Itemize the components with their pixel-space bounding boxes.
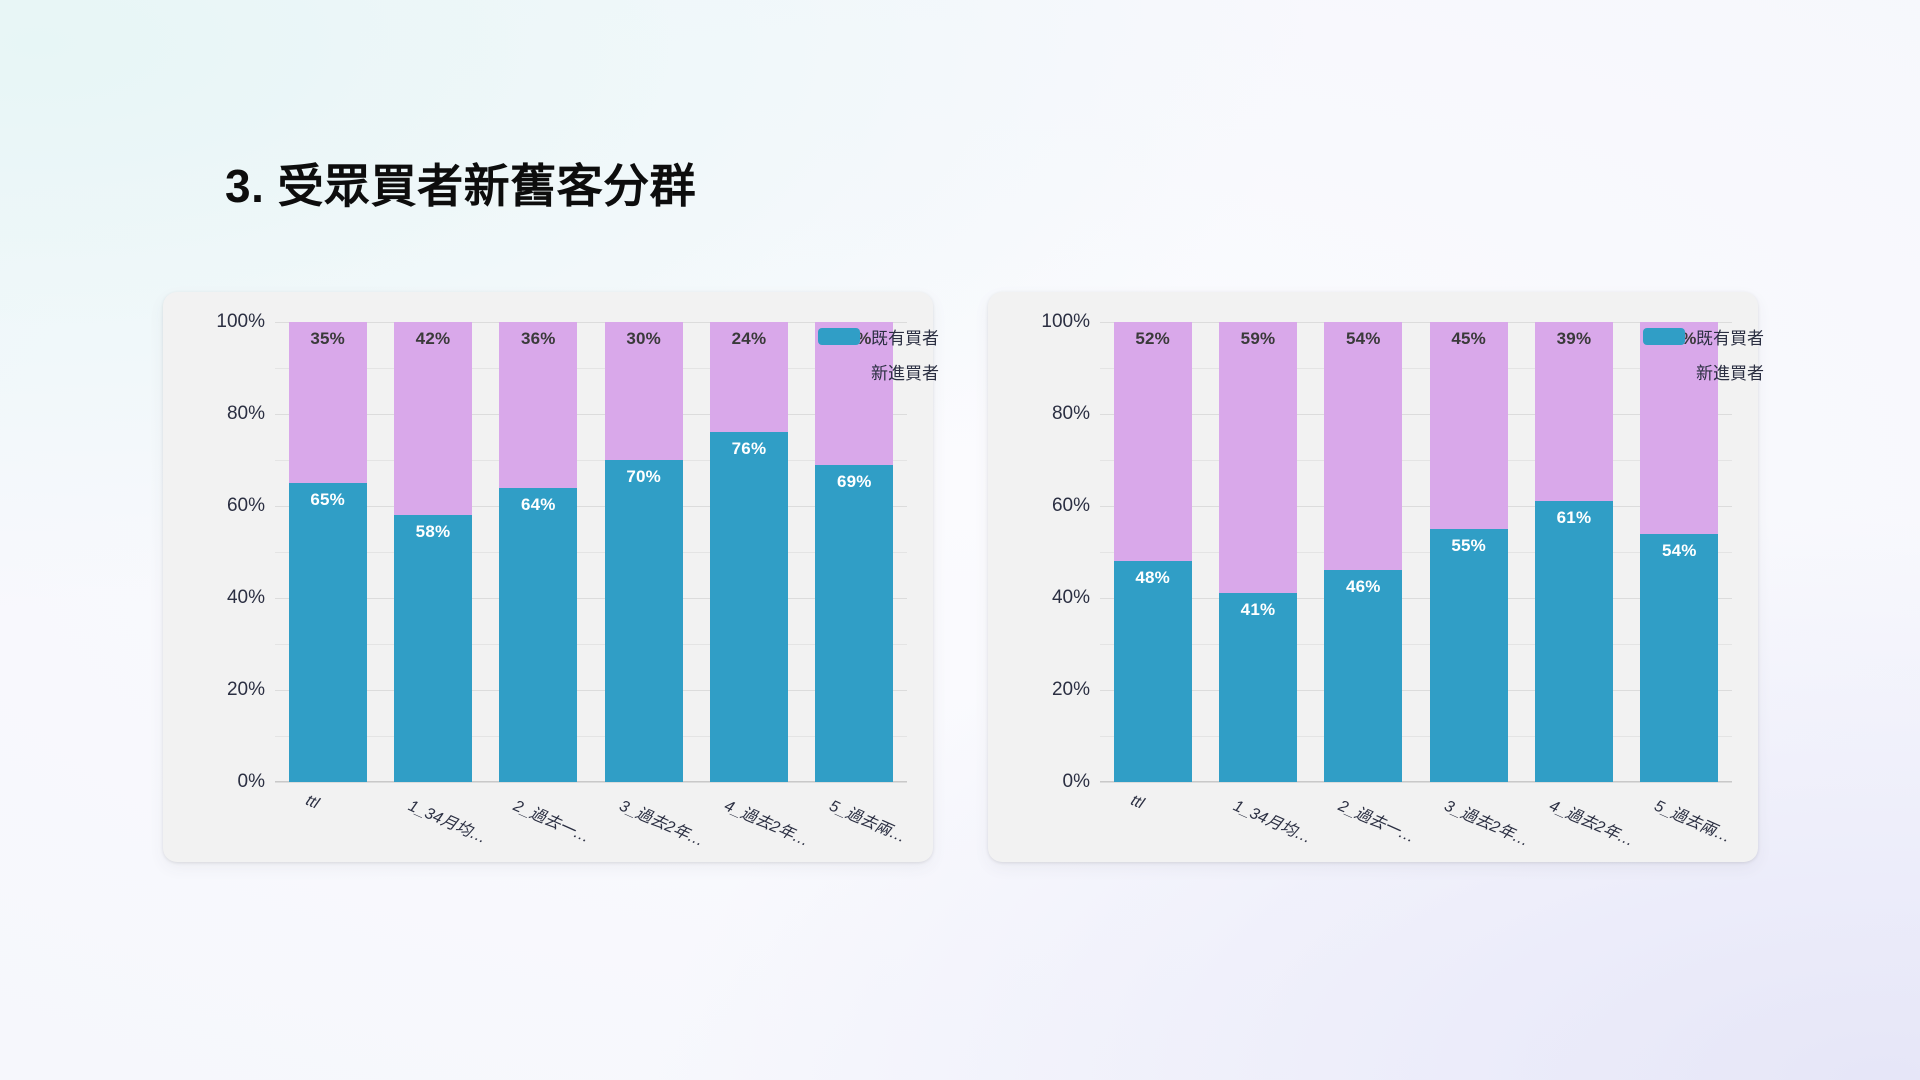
bar-value-label-new: 42% [416, 330, 451, 515]
page-title: 3. 受眾買者新舊客分群 [225, 150, 696, 216]
bar-segment-existing[interactable]: 70% [605, 460, 683, 782]
y-tick-label: 0% [238, 771, 265, 793]
legend-swatch-existing-icon [1643, 328, 1685, 345]
bar-slot: 30%70% [591, 322, 696, 782]
bar-value-label-existing: 76% [732, 440, 767, 782]
bar-value-label-new: 35% [310, 330, 345, 483]
bar-group-right: 52%48%59%41%54%46%45%55%39%61%46%54% [1100, 322, 1732, 782]
y-tick-label: 80% [1052, 403, 1090, 425]
bar-value-label-new: 39% [1557, 330, 1592, 501]
gridline [1100, 782, 1732, 783]
bar-segment-existing[interactable]: 58% [394, 515, 472, 782]
bar-segment-existing[interactable]: 54% [1640, 534, 1718, 782]
legend-right: 既有買者 新進買者 [1643, 324, 1764, 394]
bar-value-label-existing: 48% [1135, 569, 1170, 782]
bar-segment-existing[interactable]: 76% [710, 432, 788, 782]
bar-segment-new[interactable]: 36% [499, 322, 577, 488]
bar-segment-new[interactable]: 52% [1114, 322, 1192, 561]
y-tick-label: 60% [1052, 495, 1090, 517]
y-tick-label: 20% [1052, 679, 1090, 701]
stacked-bar[interactable]: 42%58% [394, 322, 472, 782]
x-axis-right: ttl1_34月均…2_過去一…3_過去2年…4_過去2年…5_過去兩… [1100, 792, 1732, 862]
bar-segment-new[interactable]: 42% [394, 322, 472, 515]
legend-item-existing[interactable]: 既有買者 [818, 324, 939, 349]
legend-item-new[interactable]: 新進買者 [1643, 359, 1764, 384]
x-tick-label: 4_過去2年… [721, 792, 814, 851]
bar-segment-new[interactable]: 35% [289, 322, 367, 483]
stacked-bar[interactable]: 36%64% [499, 322, 577, 782]
y-axis-right: 100%80%60%40%20%0% [1010, 322, 1090, 782]
bar-value-label-new: 30% [626, 330, 661, 460]
bar-segment-new[interactable]: 30% [605, 322, 683, 460]
bar-slot: 45%55% [1416, 322, 1521, 782]
x-tick-label: 1_34月均… [405, 792, 491, 848]
x-tick-label: 2_過去一… [511, 792, 596, 847]
bar-slot: 39%61% [1521, 322, 1626, 782]
legend-swatch-new-icon [1643, 363, 1685, 380]
bar-value-label-new: 59% [1241, 330, 1276, 593]
legend-item-existing[interactable]: 既有買者 [1643, 324, 1764, 349]
legend-label-new: 新進買者 [871, 359, 939, 384]
x-tick-label: 5_過去兩… [827, 792, 912, 847]
y-tick-label: 20% [227, 679, 265, 701]
bar-segment-existing[interactable]: 48% [1114, 561, 1192, 782]
stacked-bar[interactable]: 45%55% [1430, 322, 1508, 782]
legend-swatch-new-icon [818, 363, 860, 380]
stacked-bar[interactable]: 54%46% [1324, 322, 1402, 782]
stacked-bar[interactable]: 39%61% [1535, 322, 1613, 782]
bar-slot: 36%64% [486, 322, 591, 782]
stacked-bar[interactable]: 24%76% [710, 322, 788, 782]
chart-card-left: 100%80%60%40%20%0% 35%65%42%58%36%64%30%… [163, 292, 933, 862]
bar-segment-existing[interactable]: 64% [499, 488, 577, 782]
y-tick-label: 0% [1063, 771, 1090, 793]
bar-segment-existing[interactable]: 41% [1219, 593, 1297, 782]
y-axis-left: 100%80%60%40%20%0% [185, 322, 265, 782]
stacked-bar[interactable]: 30%70% [605, 322, 683, 782]
bar-segment-existing[interactable]: 69% [815, 465, 893, 782]
y-tick-label: 100% [1041, 311, 1090, 333]
bar-value-label-existing: 70% [626, 468, 661, 782]
bar-slot: 52%48% [1100, 322, 1205, 782]
bar-segment-existing[interactable]: 65% [289, 483, 367, 782]
bar-value-label-existing: 55% [1451, 537, 1486, 782]
bar-value-label-existing: 65% [310, 491, 345, 782]
y-tick-label: 40% [227, 587, 265, 609]
bar-slot: 35%65% [275, 322, 380, 782]
bar-slot: 24%76% [696, 322, 801, 782]
bar-segment-new[interactable]: 59% [1219, 322, 1297, 593]
x-tick-label: ttl [302, 792, 321, 814]
bar-value-label-existing: 41% [1241, 601, 1276, 782]
legend-left: 既有買者 新進買者 [818, 324, 939, 394]
x-tick-label: 4_過去2年… [1546, 792, 1639, 851]
bar-group-left: 35%65%42%58%36%64%30%70%24%76%31%69% [275, 322, 907, 782]
bar-value-label-new: 36% [521, 330, 556, 488]
y-tick-label: 60% [227, 495, 265, 517]
bar-segment-existing[interactable]: 61% [1535, 501, 1613, 782]
x-tick-label: ttl [1127, 792, 1146, 814]
bar-value-label-existing: 46% [1346, 578, 1381, 782]
y-tick-label: 100% [216, 311, 265, 333]
y-tick-label: 40% [1052, 587, 1090, 609]
x-axis-left: ttl1_34月均…2_過去一…3_過去2年…4_過去2年…5_過去兩… [275, 792, 907, 862]
bar-segment-new[interactable]: 54% [1324, 322, 1402, 570]
legend-label-existing: 既有買者 [1696, 324, 1764, 349]
legend-item-new[interactable]: 新進買者 [818, 359, 939, 384]
bar-slot: 42%58% [380, 322, 485, 782]
bar-segment-new[interactable]: 39% [1535, 322, 1613, 501]
bar-value-label-new: 45% [1451, 330, 1486, 529]
stacked-bar[interactable]: 52%48% [1114, 322, 1192, 782]
gridline [275, 782, 907, 783]
x-tick-label: 1_34月均… [1230, 792, 1316, 848]
bar-segment-existing[interactable]: 46% [1324, 570, 1402, 782]
bar-segment-existing[interactable]: 55% [1430, 529, 1508, 782]
bar-value-label-existing: 61% [1557, 509, 1592, 782]
legend-label-new: 新進買者 [1696, 359, 1764, 384]
bar-slot: 54%46% [1311, 322, 1416, 782]
bar-value-label-new: 54% [1346, 330, 1381, 570]
x-tick-label: 5_過去兩… [1652, 792, 1737, 847]
bar-value-label-existing: 64% [521, 496, 556, 782]
bar-value-label-new: 24% [732, 330, 767, 432]
bar-value-label-new: 52% [1135, 330, 1170, 561]
bar-value-label-existing: 69% [837, 473, 872, 782]
bar-segment-new[interactable]: 24% [710, 322, 788, 432]
stacked-bar[interactable]: 35%65% [289, 322, 367, 782]
bar-value-label-existing: 58% [416, 523, 451, 782]
legend-swatch-existing-icon [818, 328, 860, 345]
bar-value-label-existing: 54% [1662, 542, 1697, 782]
x-tick-label: 2_過去一… [1336, 792, 1421, 847]
x-tick-label: 3_過去2年… [616, 792, 709, 851]
legend-label-existing: 既有買者 [871, 324, 939, 349]
bar-segment-new[interactable]: 45% [1430, 322, 1508, 529]
chart-card-right: 100%80%60%40%20%0% 52%48%59%41%54%46%45%… [988, 292, 1758, 862]
y-tick-label: 80% [227, 403, 265, 425]
bar-slot: 59%41% [1205, 322, 1310, 782]
x-tick-label: 3_過去2年… [1441, 792, 1534, 851]
stacked-bar[interactable]: 59%41% [1219, 322, 1297, 782]
